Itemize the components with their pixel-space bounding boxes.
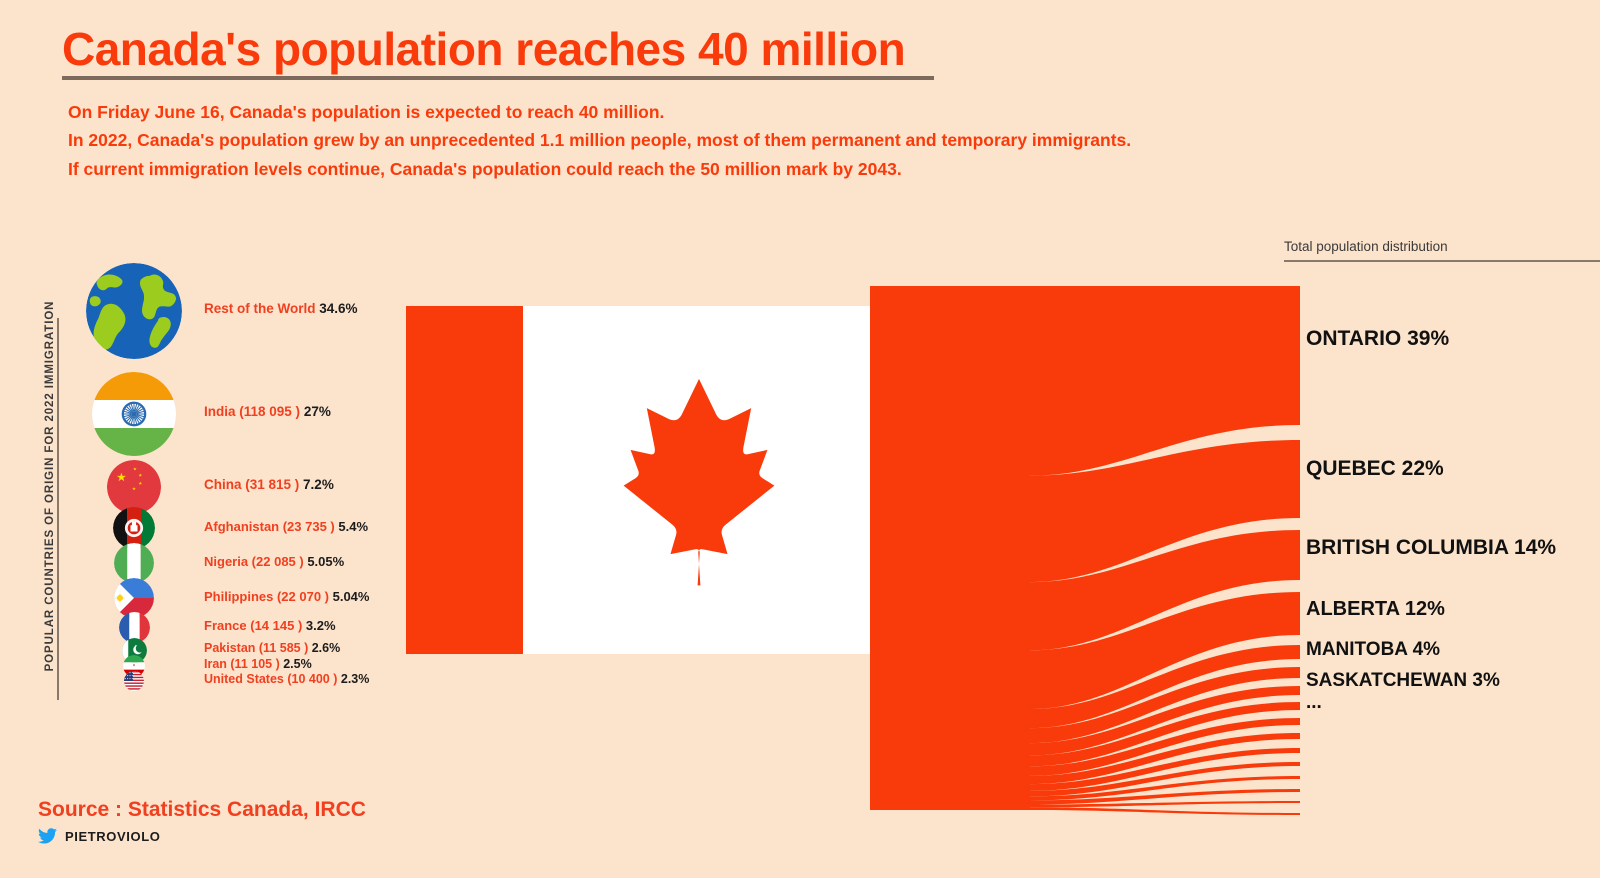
page-title: Canada's population reaches 40 million [62,22,905,76]
origin-country-name: Rest of the World [204,301,316,316]
flag-china-icon [107,460,161,514]
origin-label-china: China (31 815 ) 7.2% [204,477,334,492]
province-label-more: ... [1306,692,1322,714]
origin-label-rest-of-the-world: Rest of the World 34.6% [204,301,358,316]
origin-country-percent: 7.2% [299,477,334,492]
origin-country-name: Philippines (22 070 ) [204,589,329,604]
origin-flag-india [92,372,176,456]
origin-country-percent: 5.4% [335,519,368,534]
origin-country-name: Afghanistan (23 735 ) [204,519,335,534]
twitter-bird-icon[interactable] [38,828,57,844]
flow-source-block [870,286,1030,810]
flag-india-icon [92,372,176,456]
infographic-canvas: Canada's population reaches 40 million O… [0,0,1600,878]
source-credit: Source : Statistics Canada, IRCC [38,798,366,822]
subtitle-line-1: On Friday June 16, Canada's population i… [68,98,1368,126]
origin-label-france: France (14 145 ) 3.2% [204,618,336,633]
origin-label-nigeria: Nigeria (22 085 ) 5.05% [204,554,344,569]
flag-nigeria-icon [114,543,154,583]
origin-label-afghanistan: Afghanistan (23 735 ) 5.4% [204,519,368,534]
left-axis-label: POPULAR COUNTRIES OF ORIGIN FOR 2022 IMM… [44,286,56,686]
province-label-alberta: ALBERTA 12% [1306,598,1445,621]
left-axis-divider [57,318,59,700]
origin-label-pakistan: Pakistan (11 585 ) 2.6% [204,641,340,655]
author-handle-row: PIETROVIOLO [38,828,160,844]
origin-country-percent: 27% [300,404,331,419]
origin-flag-china [107,460,161,514]
origin-country-name: Nigeria (22 085 ) [204,554,304,569]
distribution-divider [1284,260,1600,262]
maple-leaf-icon [583,365,815,597]
population-distribution-flow [870,255,1300,855]
origin-country-percent: 34.6% [316,301,358,316]
globe-icon [86,263,182,359]
origin-country-percent: 3.2% [302,618,335,633]
province-label-manitoba: MANITOBA 4% [1306,639,1440,661]
subtitle-line-2: In 2022, Canada's population grew by an … [68,126,1368,154]
subtitle-block: On Friday June 16, Canada's population i… [68,98,1368,183]
origin-country-percent: 2.5% [280,657,312,671]
origin-country-name: Pakistan (11 585 ) [204,641,308,655]
subtitle-line-3: If current immigration levels continue, … [68,155,1368,183]
origin-flag-rest-of-the-world [86,263,182,359]
origin-country-percent: 5.05% [304,554,344,569]
flow-ribbon-other-10 [1030,807,1300,815]
origin-label-philippines: Philippines (22 070 ) 5.04% [204,589,369,604]
origin-country-percent: 2.3% [337,672,369,686]
origin-label-united-states: United States (10 400 ) 2.3% [204,672,369,686]
origin-label-iran: Iran (11 105 ) 2.5% [204,657,312,671]
province-label-british: BRITISH COLUMBIA 14% [1306,536,1556,560]
origin-country-name: Iran (11 105 ) [204,657,280,671]
origin-country-name: China (31 815 ) [204,477,299,492]
distribution-header: Total population distribution [1284,239,1448,254]
origin-country-name: France (14 145 ) [204,618,302,633]
origin-flag-nigeria [114,543,154,583]
origin-label-india: India (118 095 ) 27% [204,404,331,419]
origin-country-name: United States (10 400 ) [204,672,337,686]
author-handle: PIETROVIOLO [65,829,160,844]
province-label-ontario: ONTARIO 39% [1306,327,1449,351]
origin-country-percent: 2.6% [308,641,340,655]
flag-left-bar [406,306,523,654]
province-label-saskatchewan: SASKATCHEWAN 3% [1306,670,1500,692]
origin-country-percent: 5.04% [329,589,369,604]
origin-country-name: India (118 095 ) [204,404,300,419]
origin-flag-united-states [124,671,144,691]
title-divider [62,76,934,80]
province-label-quebec: QUEBEC 22% [1306,457,1444,481]
flag-usa-icon [124,671,144,691]
